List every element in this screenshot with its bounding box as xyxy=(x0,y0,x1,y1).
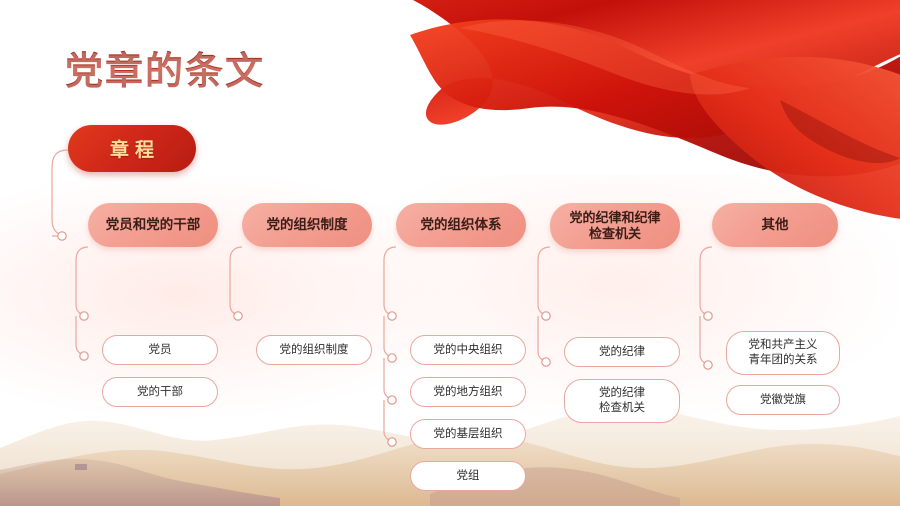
category-header-party-members[interactable]: 党员和党的干部 xyxy=(88,203,218,247)
category-label-block: 党的纪律和纪律 检查机关 xyxy=(569,210,660,242)
sub-item-label-line-1: 党和共产主义 xyxy=(749,339,818,351)
column-organization-structure: 党的组织体系 党的中央组织 党的地方组织 党的基层组织 党组 xyxy=(396,203,526,247)
category-label-line-1: 党的纪律和纪律 xyxy=(569,210,660,225)
sub-item-party-member[interactable]: 党员 xyxy=(102,335,218,365)
column-party-members: 党员和党的干部 党员 党的干部 xyxy=(88,203,218,247)
sub-item-youth-league-relation[interactable]: 党和共产主义 青年团的关系 xyxy=(726,331,840,375)
column-other: 其他 党和共产主义 青年团的关系 党徽党旗 xyxy=(712,203,842,247)
sub-item-grassroots-organization[interactable]: 党的基层组织 xyxy=(410,419,526,449)
category-label-line-2: 检查机关 xyxy=(589,226,641,241)
column-organization-system-rules: 党的组织制度 党的组织制度 xyxy=(242,203,372,247)
sub-item-label: 党的组织制度 xyxy=(280,343,349,358)
sub-item-party-cadre[interactable]: 党的干部 xyxy=(102,377,218,407)
sub-item-central-organization[interactable]: 党的中央组织 xyxy=(410,335,526,365)
column-discipline: 党的纪律和纪律 检查机关 党的纪律 党的纪律 检查机关 xyxy=(550,203,680,249)
sub-item-discipline-inspection-organ[interactable]: 党的纪律 检查机关 xyxy=(564,379,680,423)
category-label-line-1: 党员和党的干部 xyxy=(106,217,201,233)
sub-item-label: 党的地方组织 xyxy=(434,385,503,400)
sub-item-organization-rules[interactable]: 党的组织制度 xyxy=(256,335,372,365)
category-label-line-1: 党的组织制度 xyxy=(267,217,348,233)
sub-item-label-block: 党的纪律 检查机关 xyxy=(599,386,645,416)
sub-item-label-line-2: 检查机关 xyxy=(599,402,645,414)
sub-item-party-discipline[interactable]: 党的纪律 xyxy=(564,337,680,367)
sub-item-label: 党徽党旗 xyxy=(760,393,806,408)
category-header-other[interactable]: 其他 xyxy=(712,203,838,247)
mindmap-board: 党员和党的干部 党员 党的干部 党的组织制度 党的组织制度 党的组织体系 xyxy=(0,0,900,506)
sub-item-label: 党员 xyxy=(149,343,172,358)
sub-item-label-block: 党和共产主义 青年团的关系 xyxy=(749,338,818,368)
sub-item-label: 党的干部 xyxy=(137,385,183,400)
category-header-discipline[interactable]: 党的纪律和纪律 检查机关 xyxy=(550,203,680,249)
sub-item-label: 党的纪律 xyxy=(599,345,645,360)
category-header-organization-structure[interactable]: 党的组织体系 xyxy=(396,203,526,247)
sub-item-party-group[interactable]: 党组 xyxy=(410,461,526,491)
sub-item-party-emblem-flag[interactable]: 党徽党旗 xyxy=(726,385,840,415)
sub-item-local-organization[interactable]: 党的地方组织 xyxy=(410,377,526,407)
sub-item-label: 党的中央组织 xyxy=(434,343,503,358)
sub-item-label-line-1: 党的纪律 xyxy=(599,387,645,399)
category-label-line-1: 党的组织体系 xyxy=(421,217,502,233)
sub-item-label: 党组 xyxy=(457,469,480,484)
sub-item-label: 党的基层组织 xyxy=(434,427,503,442)
sub-item-label-line-2: 青年团的关系 xyxy=(749,354,818,366)
category-header-organization-rules[interactable]: 党的组织制度 xyxy=(242,203,372,247)
category-label-line-1: 其他 xyxy=(762,217,789,233)
